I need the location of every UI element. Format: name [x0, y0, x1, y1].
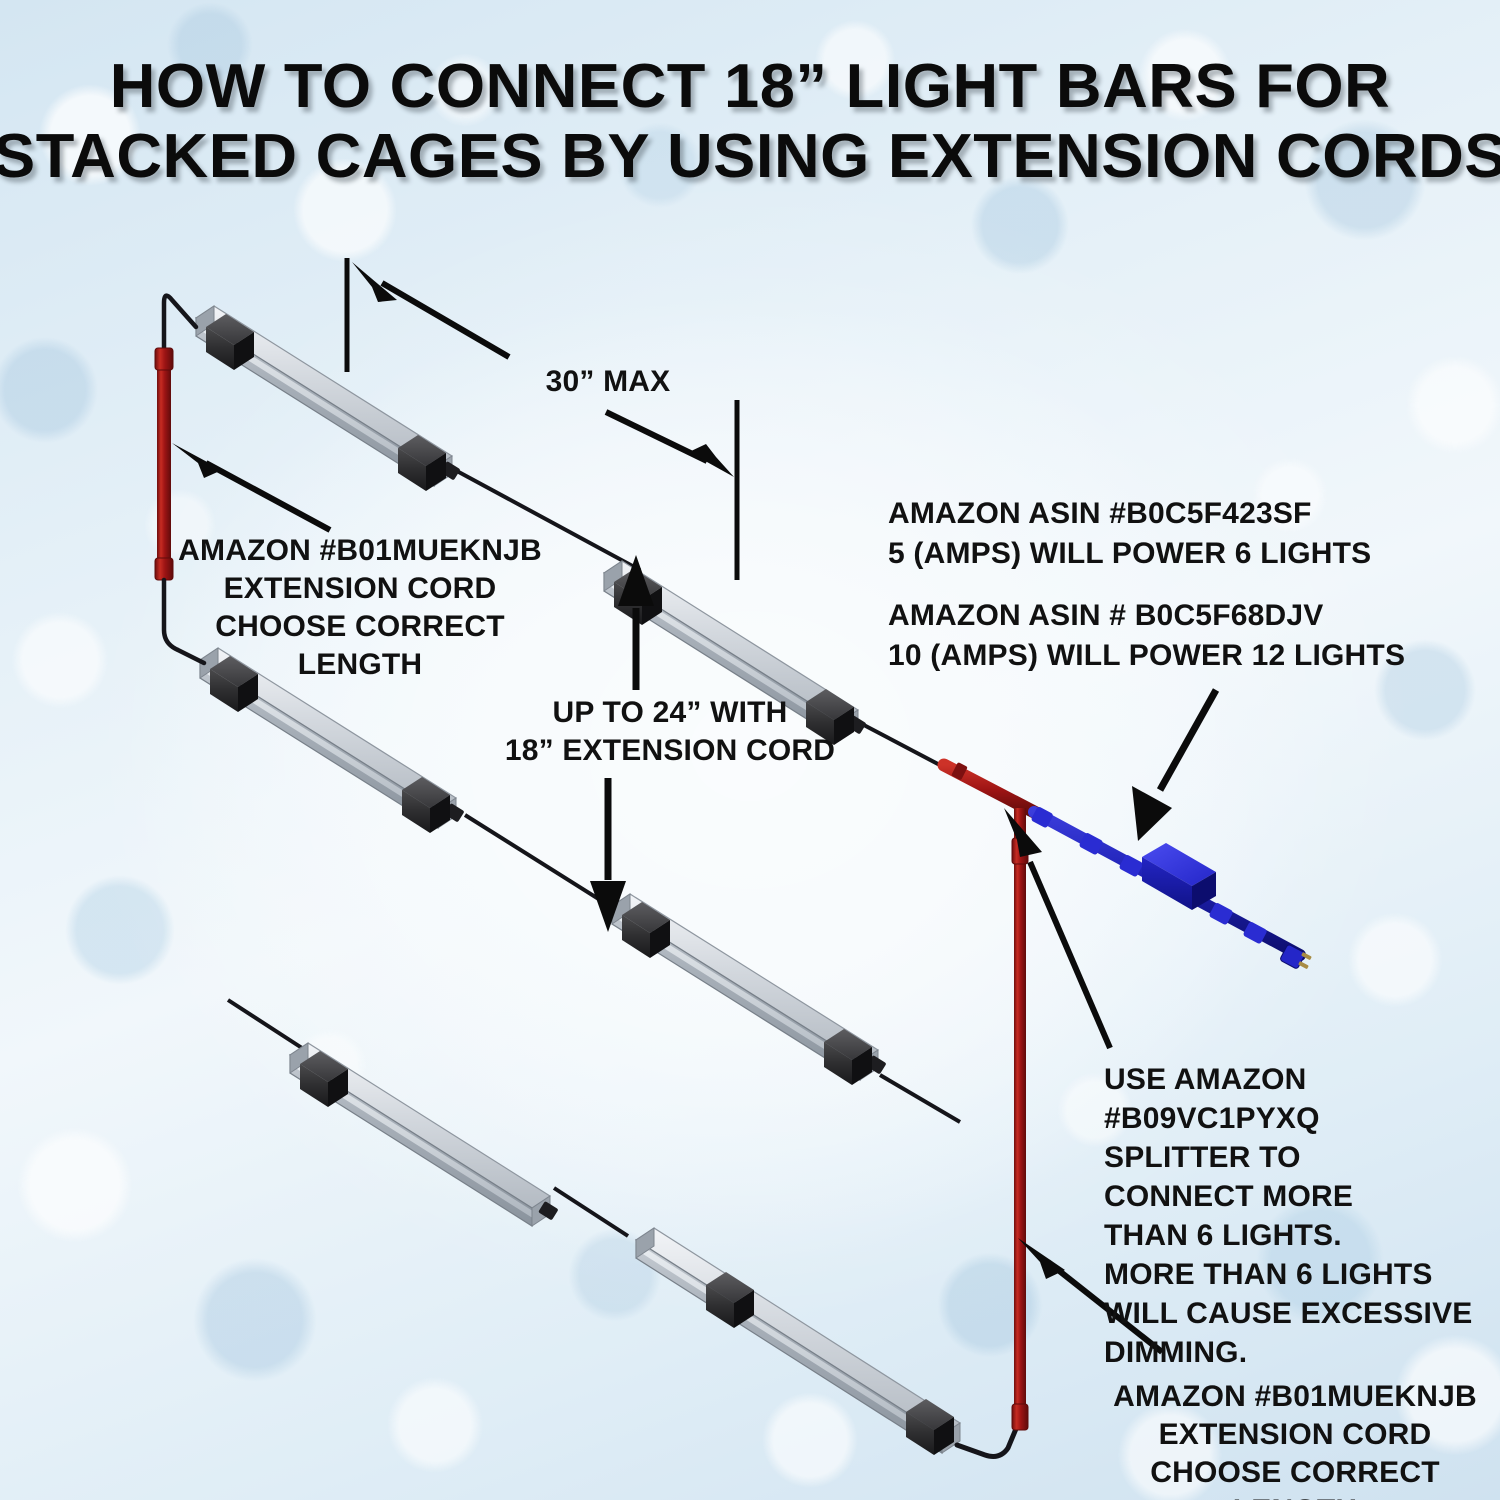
dim-arrow-shaft-right — [606, 412, 707, 461]
power-adapter-brick — [1142, 843, 1216, 910]
mounting-clip — [622, 902, 670, 958]
mounting-clip — [300, 1051, 348, 1107]
link-cord-4c — [957, 1424, 1018, 1456]
mounting-clip — [706, 1272, 754, 1328]
leader-shaft-left-cord — [206, 463, 330, 530]
dim-arrow-head-left — [352, 262, 397, 302]
bar-top-face — [636, 1228, 960, 1435]
cord-lead-top — [164, 296, 196, 348]
annotation-arrows — [172, 258, 1216, 1352]
leader-shaft-splitter — [1030, 862, 1110, 1048]
annotation-splitter: USE AMAZON #B09VC1PYXQ SPLITTER TO CONNE… — [1104, 1060, 1500, 1372]
mounting-clip — [402, 777, 450, 833]
mounting-clip — [824, 1029, 872, 1085]
link-cord-4b — [554, 1188, 628, 1236]
leader-head-left-cord — [172, 443, 222, 478]
mounting-clip — [398, 435, 446, 491]
annotation-up-to-24: UP TO 24” WITH 18” EXTENSION CORD — [470, 694, 870, 770]
leader-head-psu — [1132, 786, 1172, 841]
dim-arrow-shaft-left — [382, 283, 509, 357]
link-cord-3b — [880, 1075, 960, 1122]
annotation-30-max: 30” MAX — [488, 363, 728, 401]
cord-collar-top — [155, 348, 173, 370]
mounting-clip — [906, 1399, 954, 1455]
link-cord-4a — [228, 1000, 302, 1048]
light-bar-1 — [196, 306, 640, 570]
red-collar-c — [1012, 1404, 1028, 1430]
annotation-psu-5amp-line1: AMAZON ASIN #B0C5F423SF — [888, 495, 1488, 533]
annotation-left-extension-cord: AMAZON #B01MUEKNJB EXTENSION CORD CHOOSE… — [150, 532, 570, 684]
bar-lens — [643, 1247, 949, 1449]
red-cord-vertical — [1014, 808, 1026, 1428]
annotation-psu-5amp-line2: 5 (AMPS) WILL POWER 6 LIGHTS — [888, 535, 1488, 573]
annotation-psu-10amp-line1: AMAZON ASIN # B0C5F68DJV — [888, 597, 1488, 635]
mounting-clip — [206, 314, 254, 370]
infographic-canvas: HOW TO CONNECT 18” LIGHT BARS FOR STACKE… — [0, 0, 1500, 1500]
annotation-right-extension-cord: AMAZON #B01MUEKNJB EXTENSION CORD CHOOSE… — [1090, 1378, 1500, 1500]
light-bar-4 — [228, 1000, 1018, 1456]
annotation-psu-10amp-line2: 10 (AMPS) WILL POWER 12 LIGHTS — [888, 637, 1488, 675]
dim-arrow-head-right — [689, 444, 734, 477]
leader-shaft-psu — [1160, 690, 1216, 790]
link-cord-3a — [465, 815, 605, 903]
